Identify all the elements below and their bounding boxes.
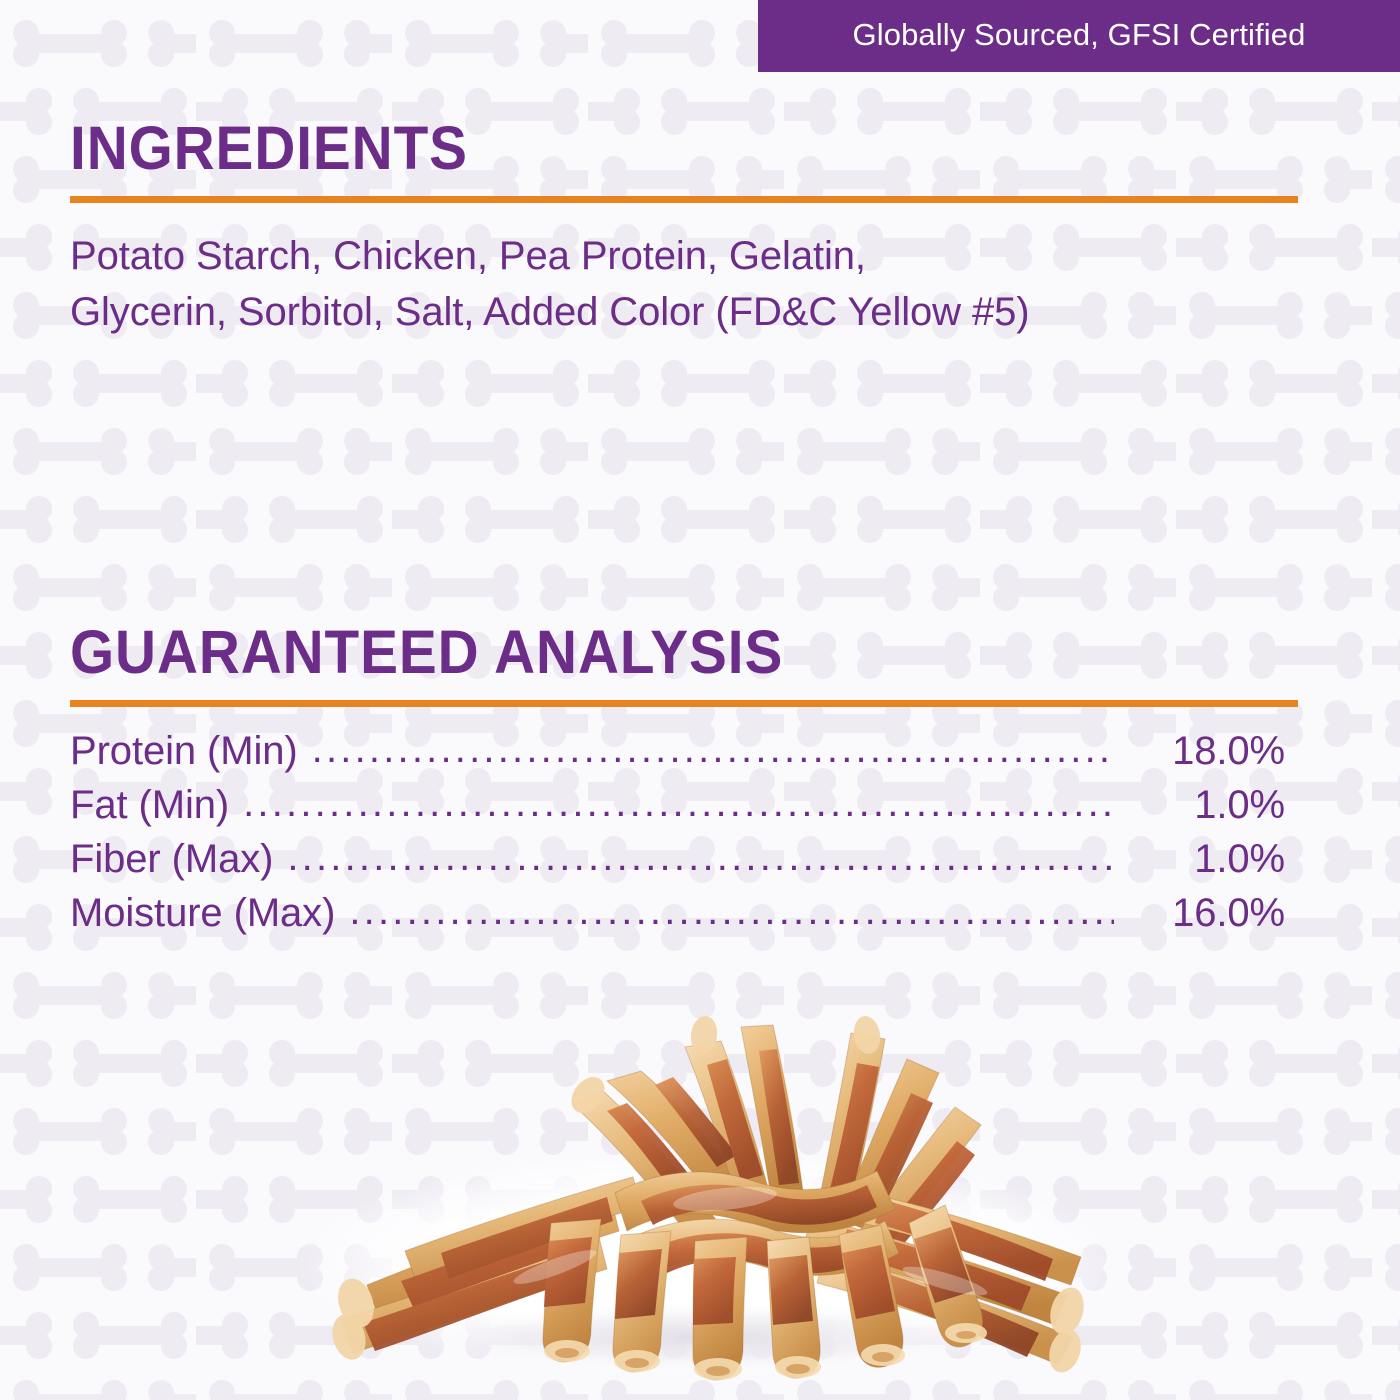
guaranteed-analysis-section: GUARANTEED ANALYSIS Protein (Min) ......… bbox=[70, 622, 1298, 945]
nutrient-label: Moisture (Max) bbox=[70, 891, 349, 936]
product-photo bbox=[255, 985, 1155, 1400]
guaranteed-analysis-table: Protein (Min) ..........................… bbox=[70, 729, 1285, 945]
table-row: Fiber (Max) ............................… bbox=[70, 837, 1285, 891]
certification-banner: Globally Sourced, GFSI Certified bbox=[758, 0, 1400, 72]
nutrient-label: Fiber (Max) bbox=[70, 837, 287, 882]
nutrient-value: 1.0% bbox=[1114, 783, 1285, 828]
guaranteed-analysis-heading: GUARANTEED ANALYSIS bbox=[70, 622, 1212, 683]
dog-treat-twists-photo bbox=[255, 985, 1155, 1400]
dot-leader: ........................................… bbox=[287, 837, 1114, 877]
table-row: Protein (Min) ..........................… bbox=[70, 729, 1285, 783]
ingredients-heading: INGREDIENTS bbox=[70, 118, 1212, 179]
nutrient-value: 16.0% bbox=[1114, 891, 1285, 936]
ingredients-section: INGREDIENTS Potato Starch, Chicken, Pea … bbox=[70, 118, 1298, 340]
table-row: Fat (Min) ..............................… bbox=[70, 783, 1285, 837]
product-label-page: Globally Sourced, GFSI Certified INGREDI… bbox=[0, 0, 1400, 1400]
dot-leader: ........................................… bbox=[243, 783, 1114, 823]
nutrient-value: 18.0% bbox=[1114, 729, 1285, 774]
nutrient-label: Fat (Min) bbox=[70, 783, 243, 828]
nutrient-label: Protein (Min) bbox=[70, 729, 312, 774]
ingredients-line-2: Glycerin, Sorbitol, Salt, Added Color (F… bbox=[70, 284, 1298, 340]
dot-leader: ........................................… bbox=[349, 891, 1114, 931]
dot-leader: ........................................… bbox=[312, 729, 1114, 769]
ingredients-text: Potato Starch, Chicken, Pea Protein, Gel… bbox=[70, 228, 1298, 340]
nutrient-value: 1.0% bbox=[1114, 837, 1285, 882]
table-row: Moisture (Max) .........................… bbox=[70, 891, 1285, 945]
guaranteed-analysis-heading-rule bbox=[70, 700, 1298, 707]
ingredients-heading-rule bbox=[70, 196, 1298, 203]
certification-banner-text: Globally Sourced, GFSI Certified bbox=[853, 17, 1306, 53]
ingredients-line-1: Potato Starch, Chicken, Pea Protein, Gel… bbox=[70, 228, 1298, 284]
